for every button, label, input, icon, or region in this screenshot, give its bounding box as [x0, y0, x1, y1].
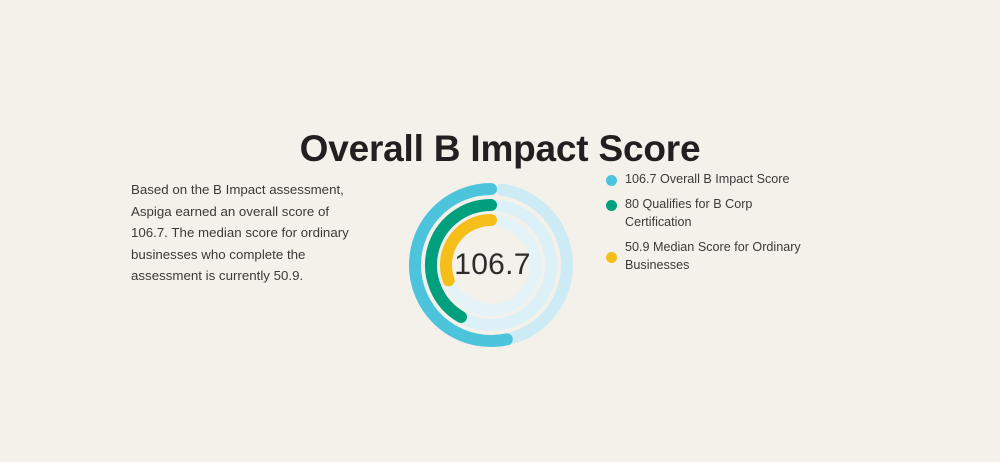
radial-gauge-chart: 106.7 [399, 173, 583, 357]
page-title: Overall B Impact Score [0, 129, 1000, 170]
legend-item-label: 80 Qualifies for B Corp Certification [625, 195, 815, 231]
legend-item: 50.9 Median Score for Ordinary Businesse… [606, 238, 856, 274]
chart-legend: 106.7 Overall B Impact Score 80 Qualifie… [606, 170, 856, 281]
legend-item: 106.7 Overall B Impact Score [606, 170, 856, 188]
gauge-arc-3 [446, 220, 491, 280]
score-description: Based on the B Impact assessment, Aspiga… [131, 179, 367, 287]
gauge-svg [399, 173, 583, 357]
legend-item-label: 106.7 Overall B Impact Score [625, 170, 790, 188]
score-page: Overall B Impact Score Based on the B Im… [0, 0, 1000, 462]
legend-item: 80 Qualifies for B Corp Certification [606, 195, 856, 231]
legend-color-dot [606, 252, 617, 263]
legend-color-dot [606, 200, 617, 211]
legend-color-dot [606, 175, 617, 186]
legend-item-label: 50.9 Median Score for Ordinary Businesse… [625, 238, 815, 274]
